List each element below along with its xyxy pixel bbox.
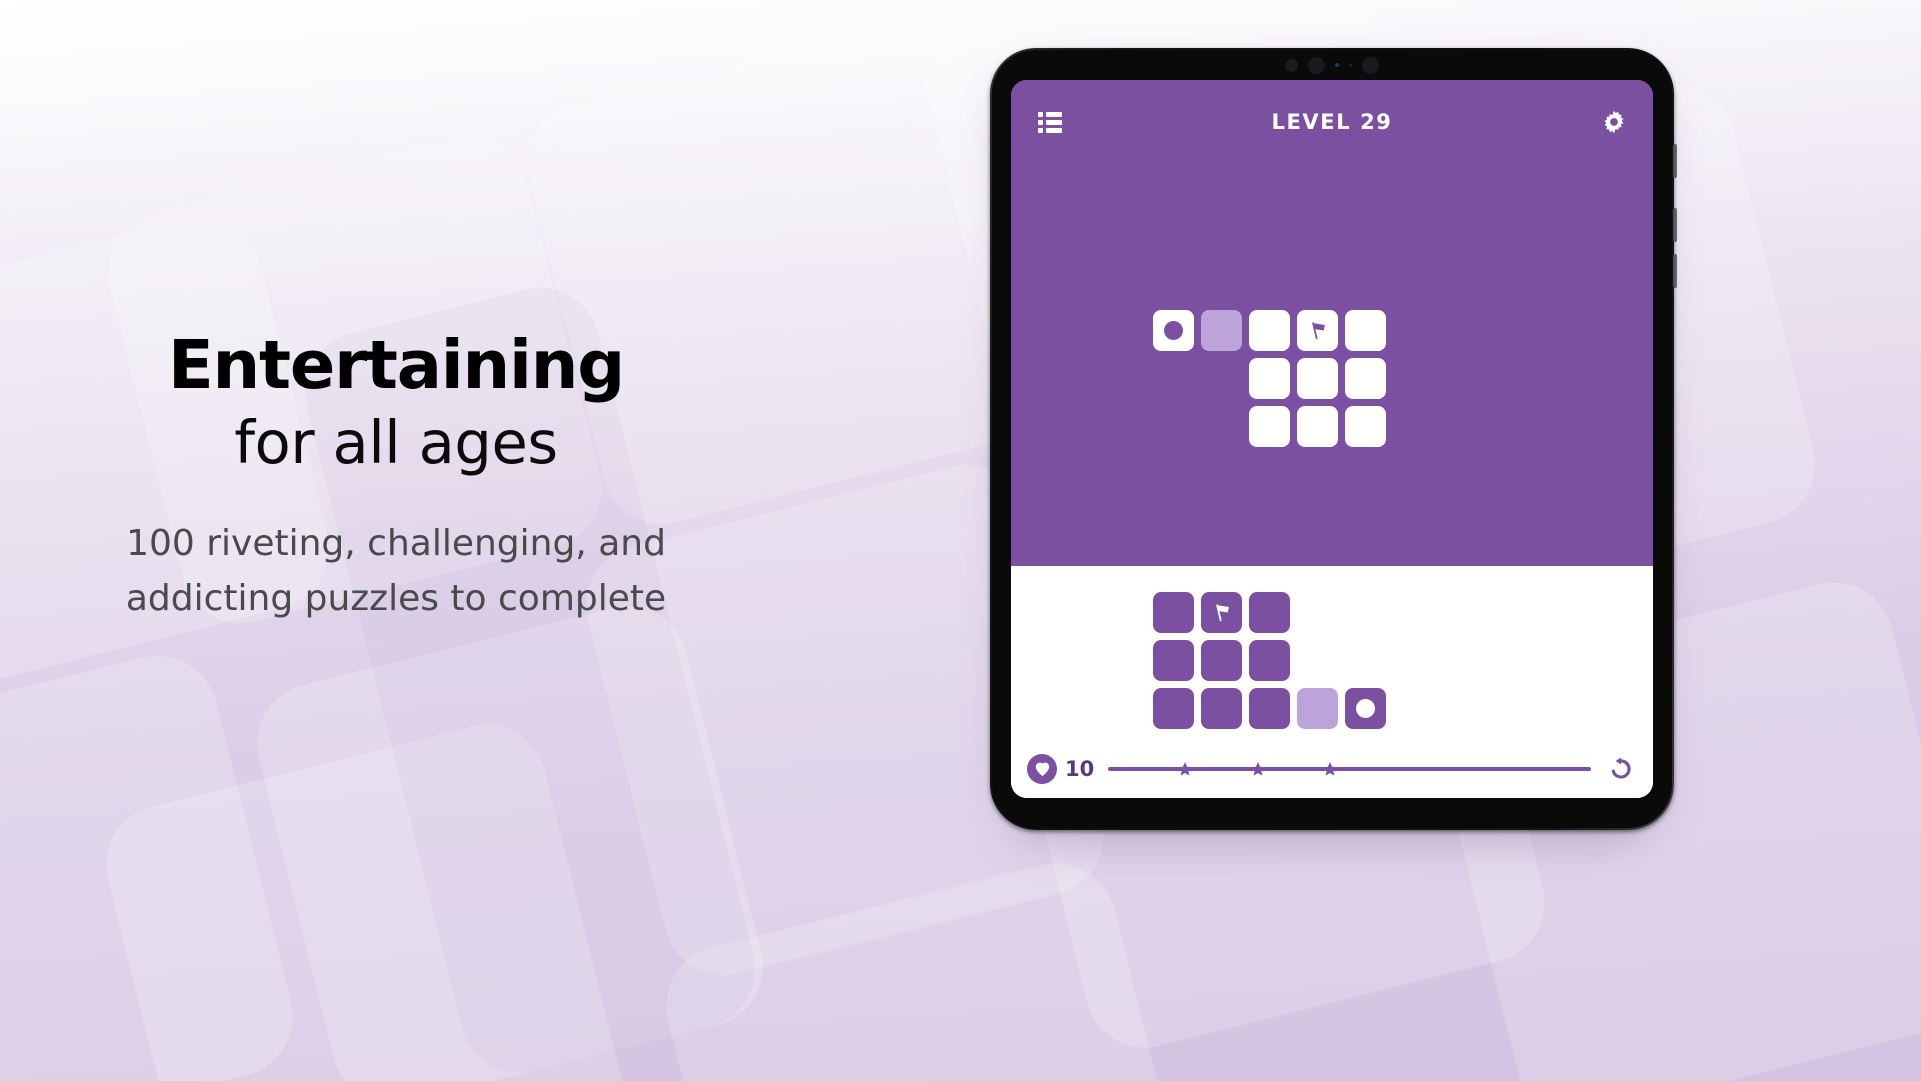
grid-cell[interactable] — [1345, 406, 1386, 447]
grid-cell[interactable] — [1297, 358, 1338, 399]
grid-cell[interactable] — [1201, 310, 1242, 351]
headline: Entertaining for all ages — [60, 330, 732, 479]
page-title: LEVEL 29 — [1067, 110, 1597, 134]
flag-icon — [1211, 602, 1233, 624]
grid-cell[interactable] — [1297, 310, 1338, 351]
grid-cell-empty — [1201, 406, 1242, 447]
grid-cell[interactable] — [1249, 358, 1290, 399]
tablet-body: LEVEL 29 — [990, 48, 1674, 830]
level-progress-bar[interactable] — [1108, 760, 1591, 778]
levels-menu-button[interactable] — [1033, 105, 1067, 139]
camera-lens-icon — [1362, 57, 1379, 74]
grid-cell[interactable] — [1345, 310, 1386, 351]
grid-cell[interactable] — [1153, 310, 1194, 351]
grid-cell[interactable] — [1345, 688, 1386, 729]
marketing-copy: Entertaining for all ages 100 riveting, … — [60, 330, 732, 626]
grid-cell-empty — [1153, 406, 1194, 447]
grid-cell[interactable] — [1297, 406, 1338, 447]
grid-cell-empty — [1297, 640, 1338, 681]
sensor-icon — [1349, 64, 1352, 67]
volume-up-button[interactable] — [1673, 208, 1677, 242]
circle-marker — [1164, 321, 1183, 340]
subcopy-line-2: addicting puzzles to complete — [60, 572, 732, 627]
lives-indicator: 10 — [1027, 754, 1094, 784]
grid-cell-empty — [1201, 358, 1242, 399]
grid-cell-empty — [1345, 592, 1386, 633]
settings-button[interactable] — [1597, 105, 1631, 139]
grid-cell[interactable] — [1201, 592, 1242, 633]
heart-icon — [1034, 761, 1051, 777]
grid-cell[interactable] — [1345, 358, 1386, 399]
grid-cell[interactable] — [1153, 688, 1194, 729]
game-bottom-bar: 10 — [1011, 740, 1653, 798]
power-button[interactable] — [1673, 144, 1677, 178]
heart-badge — [1027, 754, 1057, 784]
lives-count: 10 — [1065, 757, 1094, 781]
grid-cell[interactable] — [1297, 688, 1338, 729]
restart-icon — [1608, 756, 1634, 782]
camera-sensor-array — [1285, 56, 1379, 74]
grid-cell[interactable] — [1201, 688, 1242, 729]
headline-light: for all ages — [60, 407, 732, 479]
grid-cell-empty — [1153, 358, 1194, 399]
tablet-screen: LEVEL 29 — [1011, 80, 1653, 798]
gear-icon — [1601, 109, 1627, 135]
volume-down-button[interactable] — [1673, 254, 1677, 288]
headline-strong: Entertaining — [60, 330, 732, 401]
puzzle-grid-bottom[interactable] — [1153, 592, 1386, 729]
subcopy: 100 riveting, challenging, and addicting… — [60, 517, 732, 626]
flag-icon — [1307, 320, 1329, 342]
camera-icon — [1285, 59, 1298, 72]
board-top — [1011, 164, 1653, 566]
grid-cell[interactable] — [1249, 406, 1290, 447]
grid-cell[interactable] — [1249, 592, 1290, 633]
tablet-device: LEVEL 29 — [990, 48, 1674, 830]
sensor-icon — [1335, 63, 1339, 67]
list-icon — [1038, 112, 1062, 133]
star-milestone-icon — [1177, 761, 1194, 778]
grid-cell[interactable] — [1249, 640, 1290, 681]
game-header: LEVEL 29 — [1011, 80, 1653, 164]
grid-cell-empty — [1345, 640, 1386, 681]
restart-button[interactable] — [1605, 753, 1637, 785]
star-milestone-icon — [1322, 761, 1339, 778]
subcopy-line-1: 100 riveting, challenging, and — [60, 517, 732, 572]
grid-cell[interactable] — [1249, 310, 1290, 351]
grid-cell-empty — [1297, 592, 1338, 633]
grid-cell[interactable] — [1153, 640, 1194, 681]
grid-cell[interactable] — [1249, 688, 1290, 729]
camera-lens-icon — [1308, 57, 1325, 74]
circle-marker — [1356, 699, 1375, 718]
grid-cell[interactable] — [1201, 640, 1242, 681]
star-milestone-icon — [1249, 761, 1266, 778]
grid-cell[interactable] — [1153, 592, 1194, 633]
puzzle-grid-top[interactable] — [1153, 310, 1386, 447]
